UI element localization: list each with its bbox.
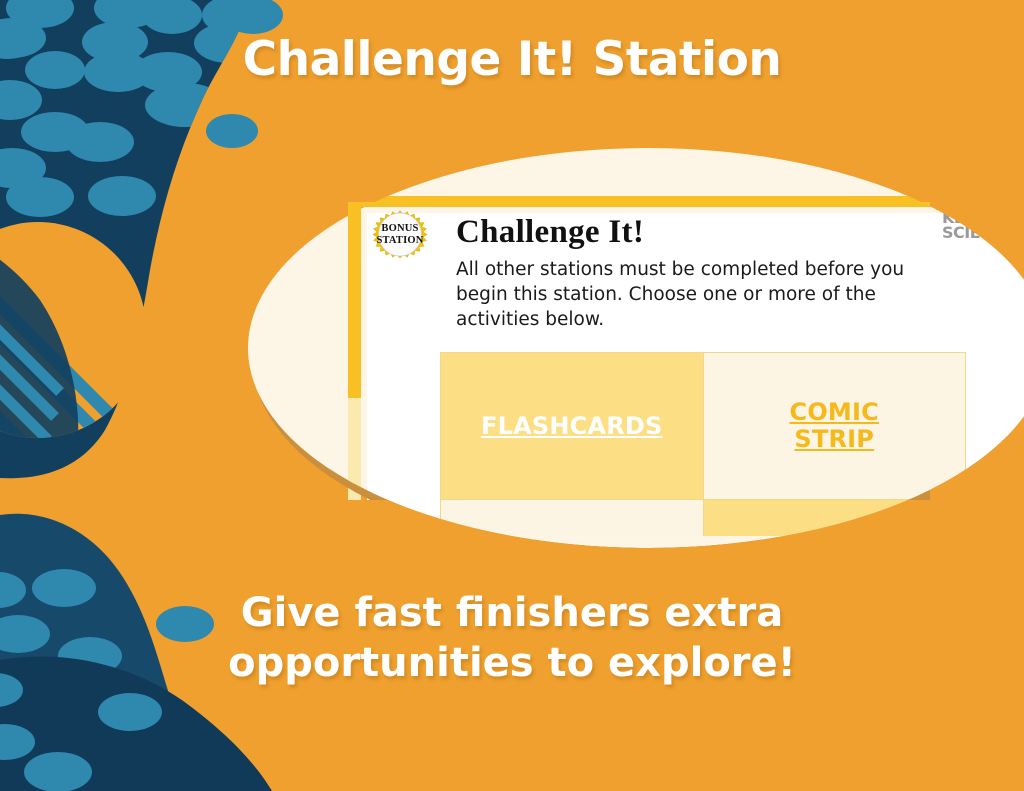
- activity-cell-comic-strip[interactable]: COMIC STRIP: [703, 353, 966, 500]
- table-row: [441, 500, 966, 537]
- document-top-accent-bar: [348, 196, 1024, 207]
- challenge-it-document-card[interactable]: BONUS STATION Challenge It! All other st…: [348, 196, 1024, 536]
- document-body-text: All other stations must be completed bef…: [456, 258, 970, 332]
- badge-label: BONUS STATION: [364, 199, 436, 271]
- logo-line-2: SCIENCE .com: [942, 225, 1015, 240]
- bonus-station-badge: BONUS STATION: [364, 208, 436, 280]
- body-line-3: activities below.: [456, 308, 970, 333]
- activity-table: FLASHCARDS COMIC STRIP: [440, 352, 966, 536]
- page-title: Challenge It! Station: [0, 32, 1024, 87]
- caption-line-1: Give fast finishers extra: [0, 588, 1024, 638]
- logo-suffix: .com: [1003, 243, 1017, 248]
- table-row: FLASHCARDS COMIC STRIP: [441, 353, 966, 500]
- comic-strip-link[interactable]: COMIC STRIP: [774, 399, 894, 453]
- document-heading: Challenge It!: [456, 214, 644, 251]
- caption-line-2: opportunities to explore!: [0, 638, 1024, 688]
- kesler-science-logo: KESLER SCIENCE .com: [942, 210, 1015, 241]
- document-left-accent-bar: [348, 196, 361, 398]
- page-caption: Give fast finishers extra opportunities …: [0, 588, 1024, 689]
- body-line-1: All other stations must be completed bef…: [456, 258, 970, 283]
- slide-canvas: Challenge It! Station BONUS STATION Chal…: [0, 0, 1024, 791]
- body-line-2: begin this station. Choose one or more o…: [456, 283, 970, 308]
- document-left-accent-bar-fade: [348, 398, 361, 536]
- activity-cell-flashcards[interactable]: FLASHCARDS: [441, 353, 704, 500]
- activity-cell-4[interactable]: [703, 500, 966, 537]
- activity-cell-3[interactable]: [441, 500, 704, 537]
- flashcards-link[interactable]: FLASHCARDS: [481, 412, 663, 440]
